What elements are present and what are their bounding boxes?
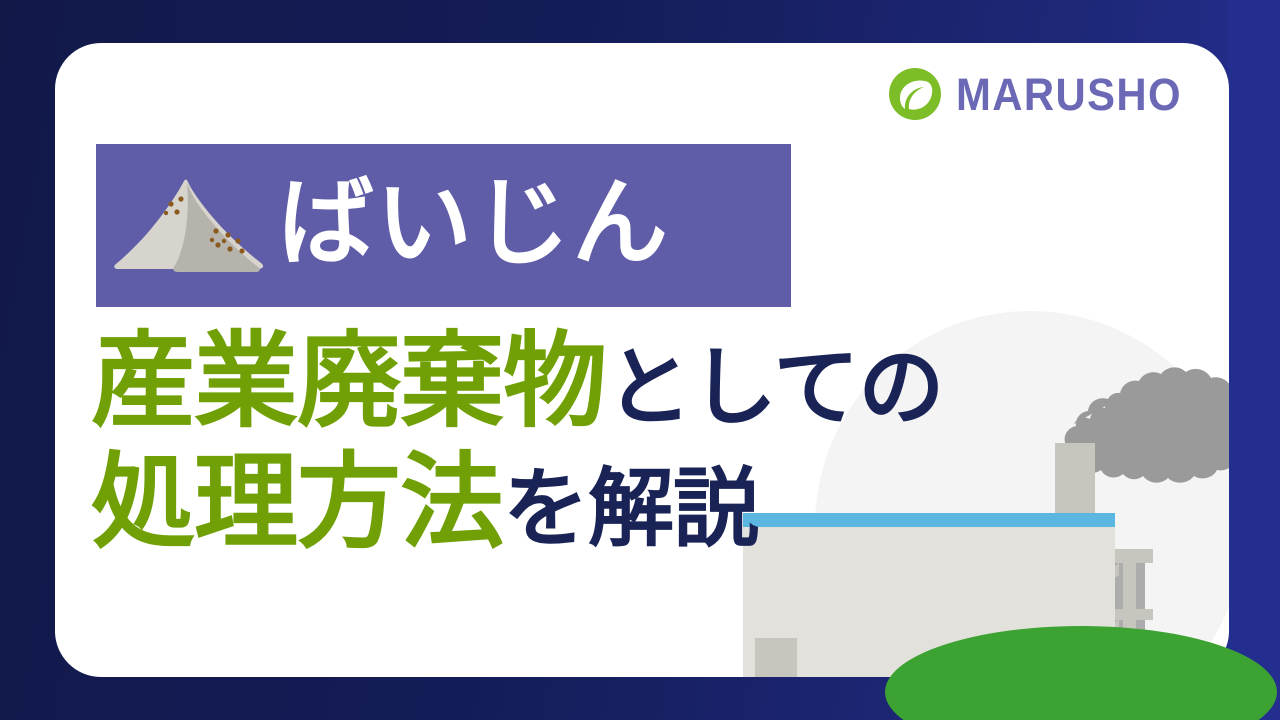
leaf-circle-logo-icon xyxy=(888,67,942,121)
keyword-label: ばいじん xyxy=(278,175,670,271)
headline-line-2-rest: を解説 xyxy=(503,459,758,559)
building-door xyxy=(755,638,797,677)
brand-wordmark: MARUSHO xyxy=(956,72,1182,117)
headline: 産業廃棄物としての 処理方法を解説 xyxy=(91,321,1151,562)
accent-band xyxy=(1228,0,1280,720)
content-card: MARUSHO ばいじん 産業廃棄物としての xyxy=(55,43,1229,677)
brand-logo[interactable]: MARUSHO xyxy=(888,67,1199,121)
headline-line-1-highlight: 産業廃棄物 xyxy=(91,320,606,442)
headline-line-1-rest: としての xyxy=(606,338,943,438)
headline-line-2: 処理方法を解説 xyxy=(91,442,1151,563)
keyword-badge: ばいじん xyxy=(96,144,791,307)
headline-line-2-highlight: 処理方法 xyxy=(91,441,503,563)
headline-line-1: 産業廃棄物としての xyxy=(91,321,1151,442)
poster-canvas: MARUSHO ばいじん 産業廃棄物としての xyxy=(0,0,1280,720)
dust-pile-icon xyxy=(104,171,272,281)
